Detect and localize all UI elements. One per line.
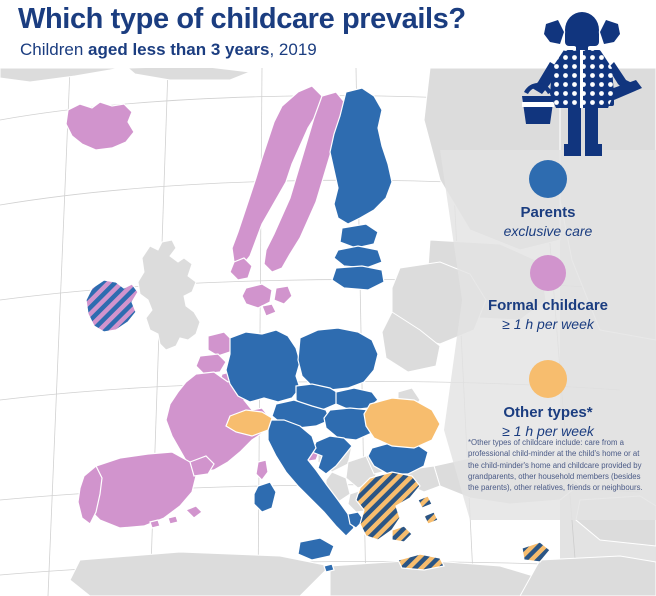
island-malta: [324, 564, 334, 572]
page-subtitle: Children aged less than 3 years, 2019: [20, 40, 317, 60]
legend-label-other: Other types*: [440, 405, 656, 422]
legend-label-parents: Parents: [440, 205, 656, 222]
island-sardinia: [254, 482, 276, 512]
legend-item-parents[interactable]: Parents exclusive care: [440, 160, 656, 239]
country-estonia: [340, 224, 378, 248]
legend-dot-blue-icon: [529, 160, 567, 198]
subtitle-light: Children: [20, 40, 88, 59]
girl-with-bucket-and-spade-icon: [516, 8, 648, 160]
legend-dot-orange-icon: [529, 360, 567, 398]
subtitle-bold: aged less than 3 years: [88, 40, 269, 59]
legend-item-other-types[interactable]: Other types* ≥ 1 h per week: [440, 360, 656, 439]
legend-label-formal: Formal childcare: [440, 298, 656, 315]
legend-dot-pink-icon: [530, 255, 566, 291]
legend-sublabel-formal: ≥ 1 h per week: [440, 316, 656, 332]
legend-item-formal-childcare[interactable]: Formal childcare ≥ 1 h per week: [440, 255, 656, 332]
country-netherlands: [208, 332, 232, 356]
legend-sublabel-parents: exclusive care: [440, 223, 656, 239]
legend-footnote: *Other types of childcare include: care …: [468, 437, 648, 493]
subtitle-year: , 2019: [269, 40, 316, 59]
page-title: Which type of childcare prevails?: [18, 3, 466, 36]
infographic-root: Which type of childcare prevails? Childr…: [0, 0, 656, 596]
country-germany: [226, 330, 300, 402]
